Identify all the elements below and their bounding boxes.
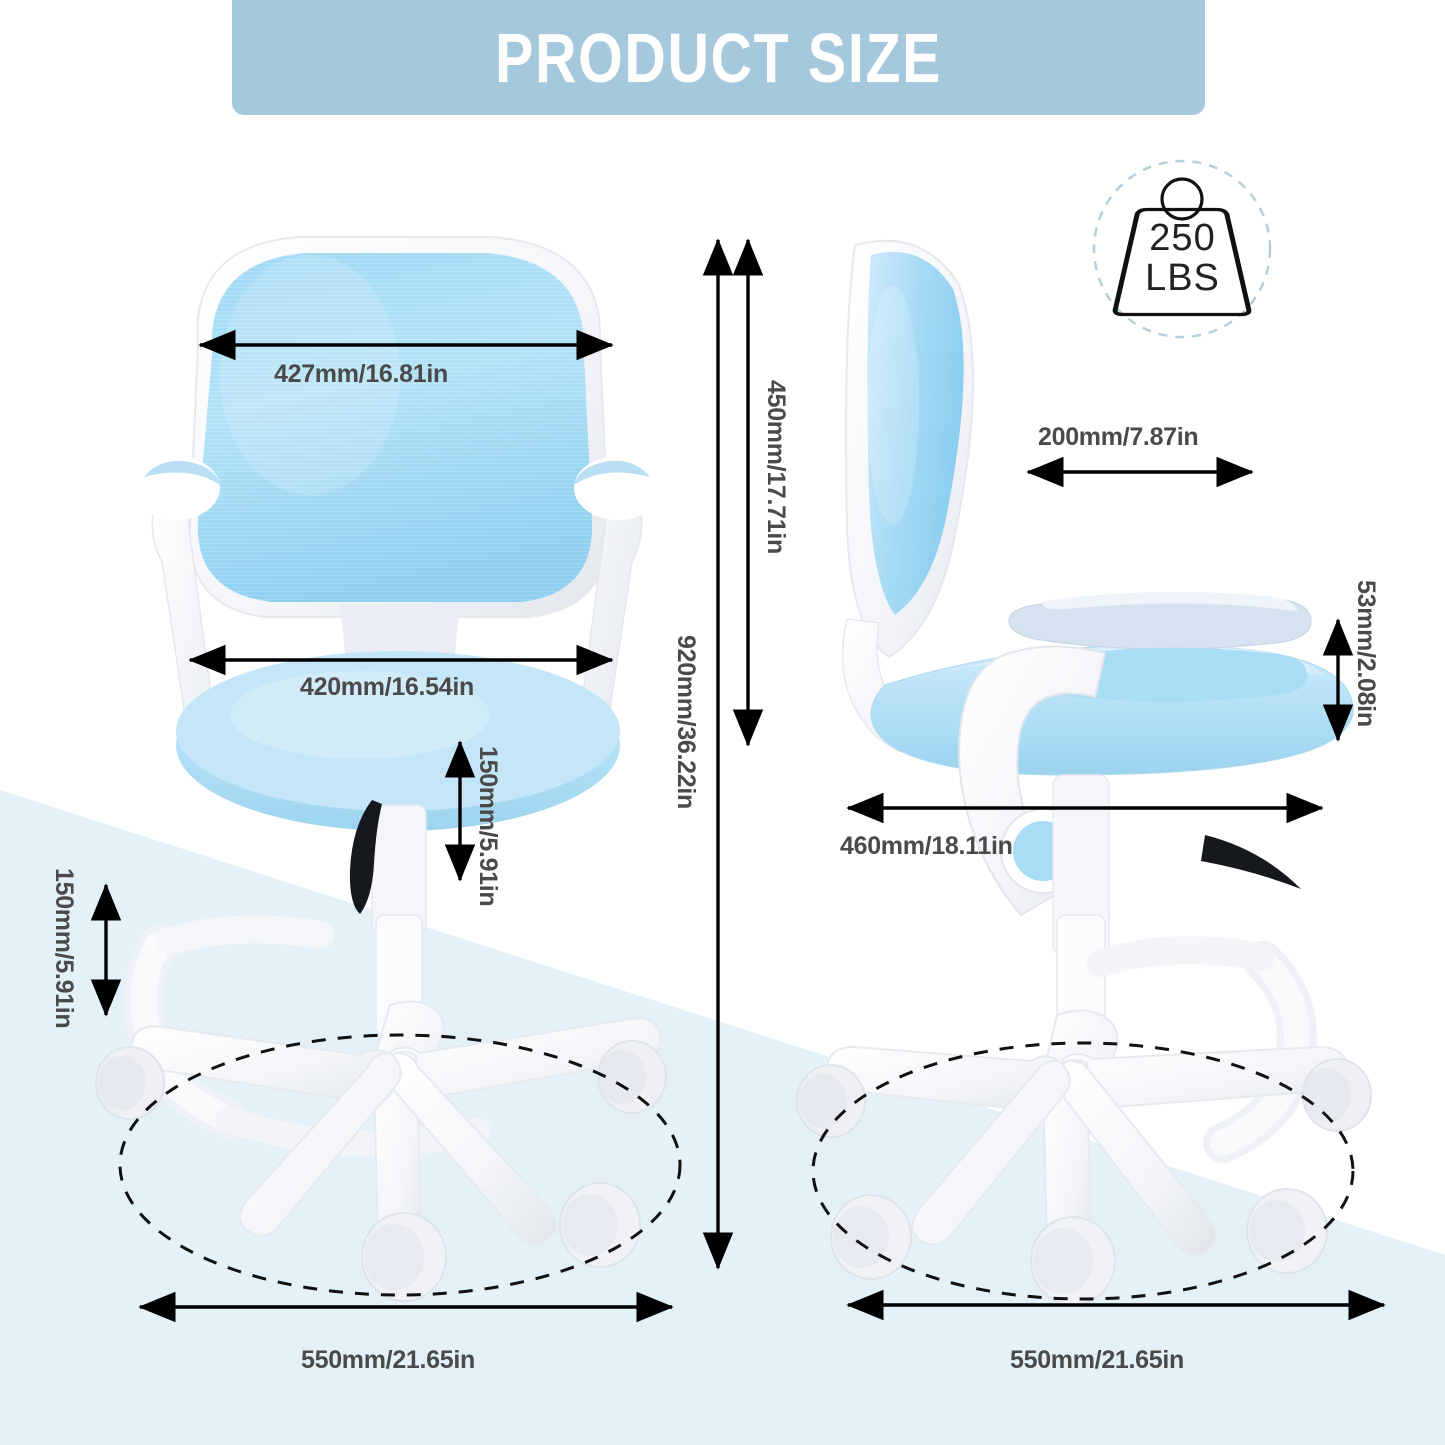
dimension-arrows-layer	[0, 0, 1445, 1445]
label-seat-depth: 460mm/18.11in	[840, 832, 1013, 861]
label-base-diameter-front: 550mm/21.65in	[301, 1346, 475, 1375]
label-seat-width: 420mm/16.54in	[300, 673, 474, 702]
label-base-diameter-side: 550mm/21.65in	[1010, 1346, 1184, 1375]
label-overall-height: 920mm/36.22in	[671, 635, 700, 809]
label-seat-thickness: 53mm/2.08in	[1351, 580, 1380, 727]
label-seat-back-height: 450mm/17.71in	[761, 380, 790, 554]
label-armrest-length: 200mm/7.87in	[1038, 423, 1198, 452]
label-gas-lift-travel: 150mm/5.91in	[473, 746, 502, 906]
label-base-height: 150mm/5.91in	[49, 868, 78, 1028]
product-size-infographic: PRODUCT SIZE 250 LBS	[0, 0, 1445, 1445]
label-backrest-width: 427mm/16.81in	[274, 360, 448, 389]
